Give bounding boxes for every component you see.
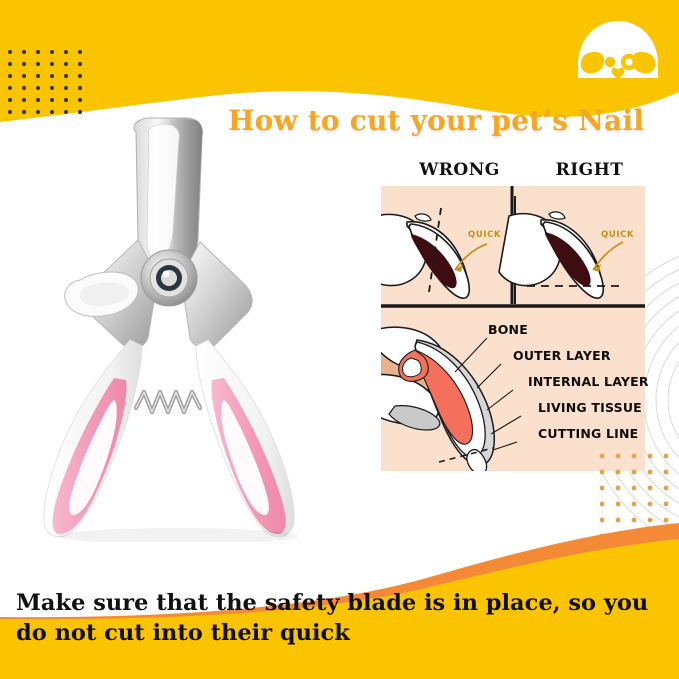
anatomy-label-cutting-line: CUTTING LINE xyxy=(538,426,638,441)
infographic-canvas: How to cut your pet’s Nail xyxy=(0,0,679,679)
quick-label-right: QUICK xyxy=(601,230,634,240)
pet-face-logo-icon xyxy=(572,18,664,80)
wrong-heading: WRONG xyxy=(397,160,522,180)
anatomy-label-internal-layer: INTERNAL LAYER xyxy=(528,374,649,389)
anatomy-label-outer-layer: OUTER LAYER xyxy=(513,348,611,363)
banner-text: Make sure that the safety blade is in pl… xyxy=(16,588,666,648)
quick-label-wrong: QUICK xyxy=(468,230,501,240)
anatomy-label-living-tissue: LIVING TISSUE xyxy=(538,400,642,415)
right-heading: RIGHT xyxy=(527,160,652,180)
pet-nail-clipper-image xyxy=(18,112,338,542)
dot-grid-top-left xyxy=(6,48,96,120)
anatomy-label-bone: BONE xyxy=(488,322,528,337)
pivot-screw xyxy=(141,250,197,306)
